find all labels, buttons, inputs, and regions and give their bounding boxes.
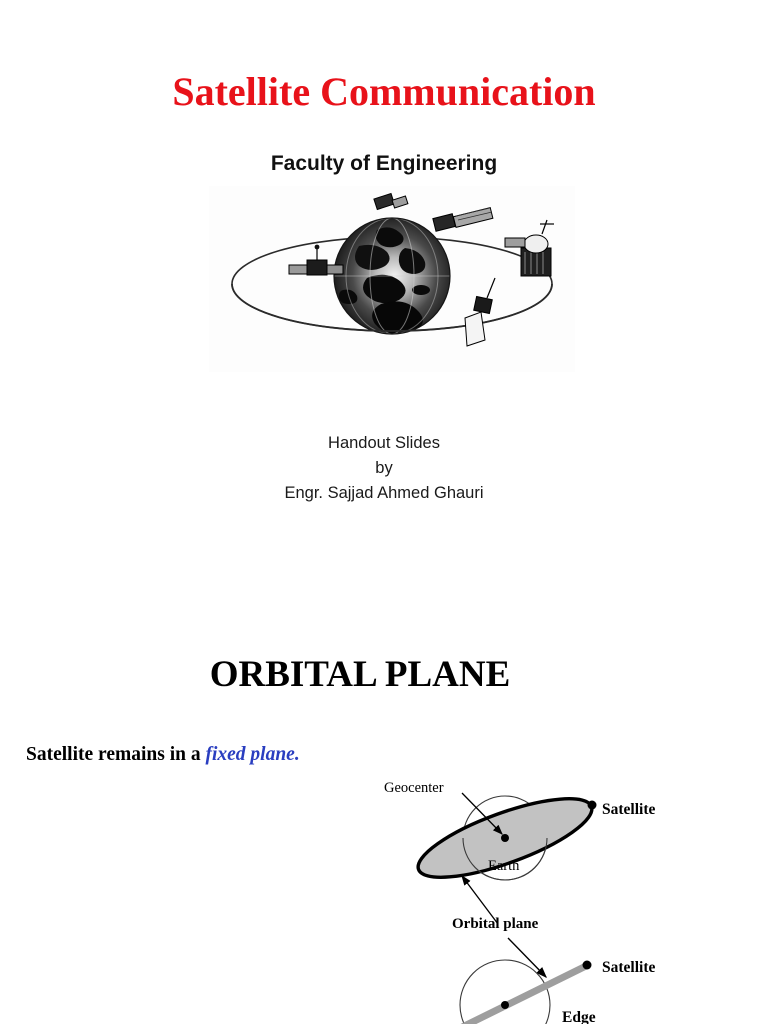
credit-line-1: Handout Slides <box>0 431 768 456</box>
satellite-dot-top <box>588 801 597 810</box>
geocenter-dot-edge <box>501 1001 509 1009</box>
orbital-plane-svg: Geocenter Satellite Earth Orbital plane … <box>378 772 698 1024</box>
label-edge: Edge <box>562 1009 596 1024</box>
statement-emphasis: fixed plane <box>205 744 294 765</box>
page-title: Satellite Communication <box>0 68 768 116</box>
statement-suffix: . <box>295 744 300 765</box>
satellite-dot-edge <box>583 961 592 970</box>
geocenter-dot <box>501 834 509 842</box>
label-earth: Earth <box>488 858 520 874</box>
document-page: Satellite Communication Faculty of Engin… <box>0 0 768 1024</box>
credit-line-3: Engr. Sajjad Ahmed Ghauri <box>0 481 768 506</box>
credit-line-2: by <box>0 456 768 481</box>
label-orbital-plane: Orbital plane <box>452 916 539 932</box>
statement-prefix: Satellite remains in a <box>26 744 205 765</box>
plane-edge-on: Satellite Edge <box>436 938 655 1024</box>
credit-block: Handout Slides by Engr. Sajjad Ahmed Gha… <box>0 431 768 506</box>
statement-line: Satellite remains in a fixed plane. <box>26 742 300 768</box>
globe-figure-svg <box>209 186 575 372</box>
label-satellite-edge: Satellite <box>602 959 655 976</box>
satellite-orbit-illustration <box>209 186 575 372</box>
section-heading: ORBITAL PLANE <box>0 652 720 698</box>
faculty-subtitle: Faculty of Engineering <box>0 151 768 177</box>
label-geocenter: Geocenter <box>384 780 444 796</box>
label-satellite-top: Satellite <box>602 801 655 818</box>
orbital-plane-diagram: Geocenter Satellite Earth Orbital plane … <box>378 772 698 1024</box>
plane-through-earth: Geocenter Satellite Earth Orbital plane <box>384 780 655 932</box>
